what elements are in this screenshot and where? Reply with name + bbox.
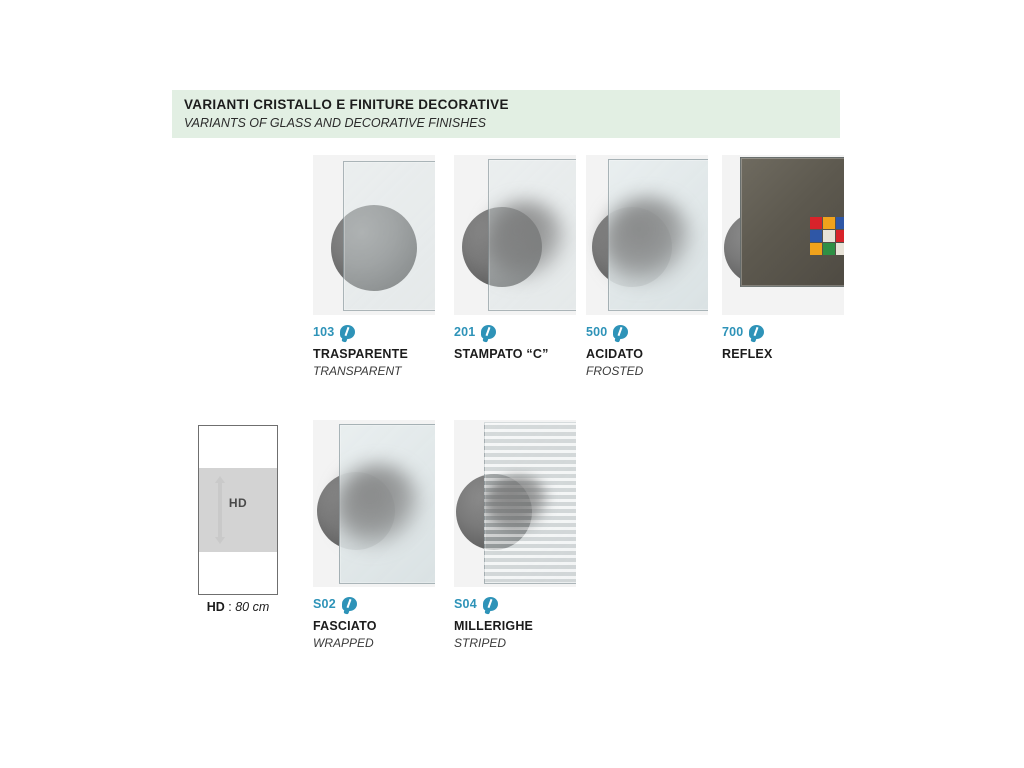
- finish-bubble-icon: [342, 597, 357, 611]
- sample-name-english-s04: STRIPED: [454, 636, 576, 650]
- finish-bubble-icon: [749, 325, 764, 339]
- sample-image-trasparente: [313, 155, 435, 315]
- finish-bubble-icon: [481, 325, 496, 339]
- sample-image-acidato: [586, 155, 708, 315]
- hd-diagram-box: HD: [198, 425, 278, 595]
- header-title-english: VARIANTS OF GLASS AND DECORATIVE FINISHE…: [184, 116, 486, 130]
- sample-name-italian-201: STAMPATO “C”: [454, 347, 576, 361]
- sample-code-row-103: 103: [313, 324, 435, 340]
- sample-image-stampato-c: [454, 155, 576, 315]
- sample-card-s04[interactable]: S04 MILLERIGHE STRIPED: [454, 420, 576, 650]
- sample-name-italian-s02: FASCIATO: [313, 619, 435, 633]
- sample-name-english-103: TRANSPARENT: [313, 364, 435, 378]
- sample-code-500: 500: [586, 325, 607, 339]
- hd-diagram-label: HD: [199, 496, 277, 510]
- finish-bubble-icon: [483, 597, 498, 611]
- hd-caption-separator: :: [225, 600, 235, 614]
- sample-code-row-s02: S02: [313, 596, 435, 612]
- hd-diagram-fill: [199, 468, 277, 552]
- sample-card-s02[interactable]: S02 FASCIATO WRAPPED: [313, 420, 435, 650]
- hd-caption-value: 80 cm: [235, 600, 269, 614]
- hd-caption-key: HD: [207, 600, 225, 614]
- sample-name-italian-700: REFLEX: [722, 347, 844, 361]
- sample-image-fasciato: [313, 420, 435, 587]
- sample-name-italian-s04: MILLERIGHE: [454, 619, 576, 633]
- sample-code-s04: S04: [454, 597, 477, 611]
- finish-bubble-icon: [613, 325, 628, 339]
- header-title-italian: VARIANTI CRISTALLO E FINITURE DECORATIVE: [184, 97, 509, 112]
- sample-card-103[interactable]: 103 TRASPARENTE TRANSPARENT: [313, 155, 435, 378]
- sample-name-english-500: FROSTED: [586, 364, 708, 378]
- sample-card-201[interactable]: 201 STAMPATO “C”: [454, 155, 576, 364]
- sample-card-700[interactable]: 700 REFLEX: [722, 155, 844, 364]
- hd-dimension-arrow-icon: [215, 476, 225, 544]
- section-header-banner: VARIANTI CRISTALLO E FINITURE DECORATIVE…: [172, 90, 840, 138]
- sample-code-s02: S02: [313, 597, 336, 611]
- hd-caption: HD : 80 cm: [186, 600, 290, 614]
- sample-image-millerighe: [454, 420, 576, 587]
- sample-code-700: 700: [722, 325, 743, 339]
- finish-bubble-icon: [340, 325, 355, 339]
- sample-code-row-700: 700: [722, 324, 844, 340]
- sample-code-row-500: 500: [586, 324, 708, 340]
- sample-name-english-s02: WRAPPED: [313, 636, 435, 650]
- sample-code-row-s04: S04: [454, 596, 576, 612]
- page-root: VARIANTI CRISTALLO E FINITURE DECORATIVE…: [0, 0, 1024, 768]
- sample-image-reflex: [722, 155, 844, 315]
- sample-name-italian-500: ACIDATO: [586, 347, 708, 361]
- sample-code-201: 201: [454, 325, 475, 339]
- sample-code-103: 103: [313, 325, 334, 339]
- sample-code-row-201: 201: [454, 324, 576, 340]
- sample-card-500[interactable]: 500 ACIDATO FROSTED: [586, 155, 708, 378]
- sample-name-italian-103: TRASPARENTE: [313, 347, 435, 361]
